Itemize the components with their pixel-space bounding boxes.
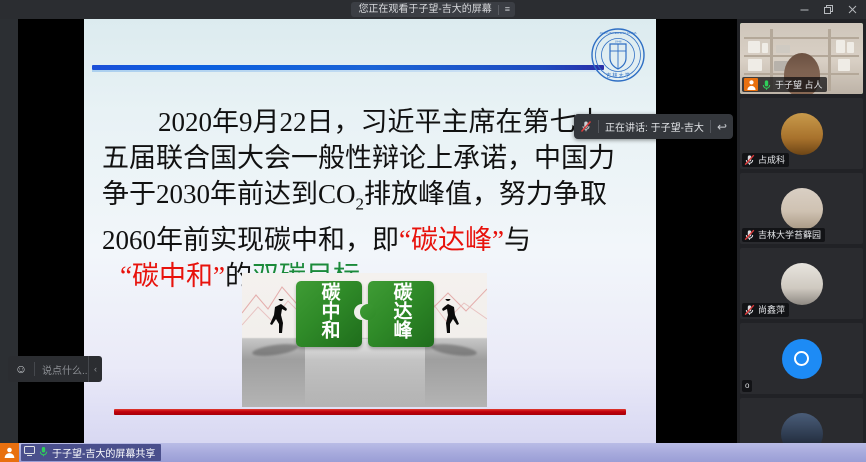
taskbar-item-screen-share[interactable]: 于子望-吉大的屏幕共享 [21, 444, 161, 461]
participant-name-badge: 占成科 [742, 153, 789, 167]
taskbar-item-label: 于子望-吉大的屏幕共享 [52, 445, 155, 460]
participants-rail[interactable]: 于子望 占人 占成科 [737, 19, 866, 443]
slide-line-2: 五届联合国大会一般性辩论上承诺，中国力 [102, 143, 615, 173]
puzzle-right-label: 碳达峰 [391, 282, 412, 339]
slide-line-3b: 排放峰值，努力争取 [364, 179, 607, 209]
participant-tile[interactable]: 于子望 占人 [740, 23, 863, 94]
active-speaker-label: 正在讲话: 于子望-吉大 [605, 119, 704, 134]
participant-name: 吉林大学苔藓园 [758, 229, 821, 241]
slide-bottom-accent-bar [114, 409, 626, 415]
hamburger-menu-icon[interactable]: ≡ [505, 2, 510, 17]
person-left-silhouette-icon [270, 299, 288, 339]
participant-name: 尚鑫萍 [758, 304, 785, 316]
window-controls [792, 0, 864, 19]
svg-text:吉 林 大 学: 吉 林 大 学 [606, 72, 630, 79]
mic-muted-icon [744, 229, 755, 241]
slide-illustration: 碳中和 碳达峰 [242, 273, 487, 407]
puzzle-piece-carbon-neutral: 碳中和 [296, 281, 362, 347]
return-arrow-icon[interactable]: ↩ [717, 120, 727, 134]
participant-name-badge: 于子望 占人 [742, 77, 827, 92]
avatar-initial [794, 351, 809, 366]
divider [710, 120, 711, 133]
slide-line-1: 2020年9月22日，习近平主席在第七十 [158, 107, 604, 137]
slide-top-accent-bar [92, 65, 604, 70]
presentation-slide: 1946 吉 林 大 学 JILIN UNIVERSITY CHINA 2020… [84, 19, 656, 443]
meeting-window: 您正在观看于子望-吉大的屏幕 ≡ [0, 0, 866, 462]
taskbar[interactable]: 于子望-吉大的屏幕共享 [0, 443, 866, 462]
jilin-university-logo-icon: 1946 吉 林 大 学 JILIN UNIVERSITY CHINA [590, 27, 646, 83]
participant-name: o [742, 380, 752, 392]
svg-text:1946: 1946 [615, 40, 622, 44]
start-icon[interactable] [0, 443, 19, 462]
monitor-icon [24, 446, 35, 459]
screen-share-banner[interactable]: 您正在观看于子望-吉大的屏幕 ≡ [351, 2, 514, 17]
chevron-left-icon[interactable]: ‹ [88, 356, 102, 382]
avatar [781, 263, 823, 305]
co2-subscript: 2 [356, 194, 365, 213]
close-button[interactable] [840, 0, 864, 19]
participant-name-badge: 吉林大学苔藓园 [742, 228, 825, 242]
divider [498, 5, 499, 15]
participant-tile[interactable]: 吉林大学苔藓园 [740, 173, 863, 244]
title-bar: 您正在观看于子望-吉大的屏幕 ≡ [0, 0, 866, 19]
mic-on-icon [761, 79, 772, 91]
minimize-button[interactable] [792, 0, 816, 19]
slide-body-text: 2020年9月22日，习近平主席在第七十 五届联合国大会一般性辩论上承诺，中国力… [102, 104, 642, 294]
mic-muted-icon [744, 154, 755, 166]
avatar [782, 339, 822, 379]
chat-input-bar[interactable]: ☺ 说点什么... ‹ [8, 356, 102, 382]
chat-placeholder[interactable]: 说点什么... [35, 362, 88, 377]
participant-tile[interactable]: 尚鑫萍 [740, 248, 863, 319]
emoji-icon[interactable]: ☺ [8, 362, 34, 376]
participant-name: 于子望 占人 [775, 79, 823, 91]
participant-tile[interactable]: o [740, 323, 863, 394]
mic-muted-icon [744, 304, 755, 316]
restore-button[interactable] [816, 0, 840, 19]
puzzle-piece-carbon-peak: 碳达峰 [368, 281, 434, 347]
puzzle-left-label: 碳中和 [319, 282, 340, 339]
mic-muted-icon [580, 120, 592, 133]
active-speaker-banner[interactable]: 正在讲话: 于子望-吉大 ↩ [574, 114, 733, 139]
svg-text:JILIN UNIVERSITY CHINA: JILIN UNIVERSITY CHINA [599, 31, 637, 35]
participant-name-badge: 尚鑫萍 [742, 303, 789, 317]
avatar [781, 188, 823, 230]
screen-share-banner-label: 您正在观看于子望-吉大的屏幕 [358, 2, 491, 17]
host-icon [744, 78, 758, 91]
mic-icon [39, 446, 48, 460]
divider [598, 120, 599, 133]
participant-tile[interactable]: 占成科 [740, 98, 863, 169]
slide-line-4b: 与 [504, 225, 531, 255]
slide-line-3a: 争于2030年前达到CO [102, 179, 356, 209]
shared-screen-stage[interactable]: 1946 吉 林 大 学 JILIN UNIVERSITY CHINA 2020… [0, 19, 737, 443]
highlight-carbon-peak: “碳达峰” [399, 225, 504, 255]
slide-line-4a: 2060年前实现碳中和，即 [102, 225, 399, 255]
highlight-carbon-neutral: “碳中和” [120, 261, 225, 291]
person-right-silhouette-icon [441, 299, 459, 339]
avatar [781, 113, 823, 155]
participant-name: 占成科 [758, 154, 785, 166]
